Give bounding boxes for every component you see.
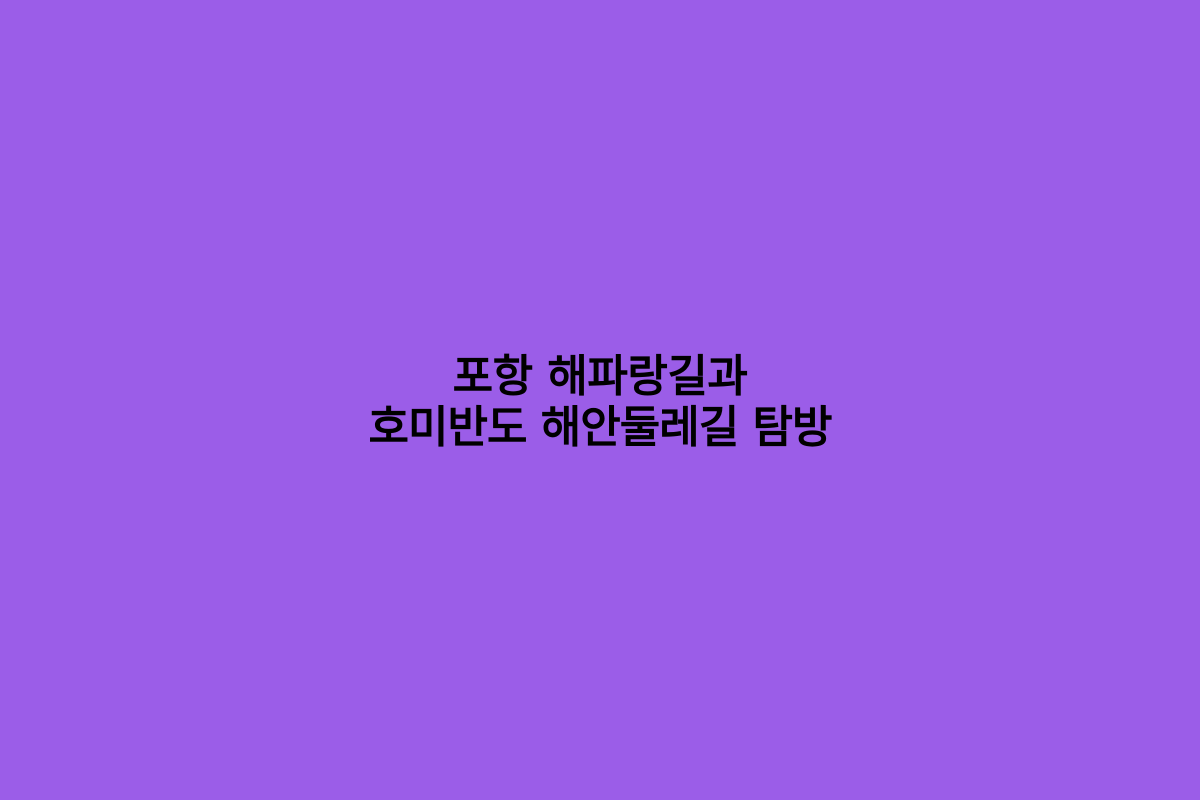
title-banner: 포항 해파랑길과 호미반도 해안둘레길 탐방 (0, 0, 1200, 800)
banner-title-line-2: 호미반도 해안둘레길 탐방 (12, 402, 1188, 453)
banner-title-block: 포항 해파랑길과 호미반도 해안둘레길 탐방 (0, 351, 1200, 454)
banner-title-line-1: 포항 해파랑길과 (12, 351, 1188, 402)
